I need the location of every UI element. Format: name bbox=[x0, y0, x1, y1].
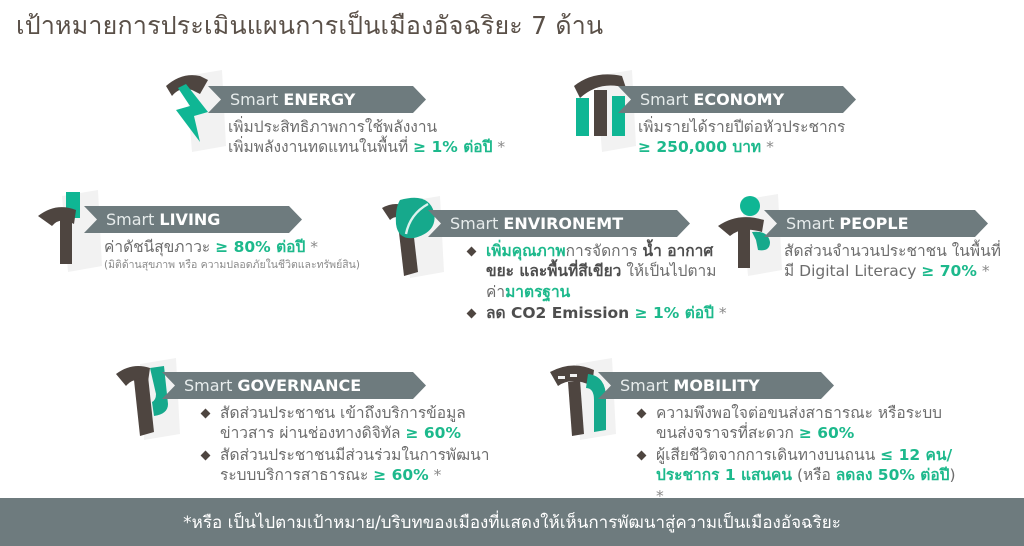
card-smart-environment: Smart ENVIRONEMT เพิ่มคุณภาพการจัดการ น้… bbox=[376, 190, 734, 325]
people-line2-pre: มี Digital Literacy bbox=[784, 262, 921, 280]
banner-bold-governance: GOVERNANCE bbox=[237, 376, 361, 395]
mob-b1-value: ≥ 60% bbox=[799, 424, 854, 442]
banner-bold-people: PEOPLE bbox=[839, 214, 908, 233]
banner-light-mobility: Smart bbox=[620, 376, 668, 395]
banner-bold-energy: ENERGY bbox=[283, 90, 355, 109]
banner-smart-governance: Smart GOVERNANCE bbox=[162, 372, 426, 399]
governance-bullet-2: สัดส่วนประชาชนมีส่วนร่วมในการพัฒนาระบบบร… bbox=[200, 445, 512, 486]
banner-light-people: Smart bbox=[786, 214, 834, 233]
banner-light-environment: Smart bbox=[450, 214, 498, 233]
body-smart-living: ค่าดัชนีสุขภาวะ ≥ 80% ต่อปี * (มิติด้านส… bbox=[104, 237, 360, 273]
energy-asterisk: * bbox=[497, 138, 505, 156]
banner-light-economy: Smart bbox=[640, 90, 688, 109]
energy-line2-value: ≥ 1% ต่อปี bbox=[413, 138, 492, 156]
env-b2-value: ≥ 1% ต่อปี bbox=[635, 304, 714, 322]
economy-asterisk: * bbox=[766, 138, 774, 156]
banner-light-living: Smart bbox=[106, 210, 154, 229]
economy-line2-value: ≥ 250,000 บาท bbox=[638, 138, 761, 156]
economy-line2: ≥ 250,000 บาท * bbox=[638, 137, 856, 157]
banner-smart-environment: Smart ENVIRONEMT bbox=[428, 210, 690, 237]
banner-smart-energy: Smart ENERGY bbox=[208, 86, 426, 113]
banner-smart-mobility: Smart MOBILITY bbox=[598, 372, 834, 399]
living-line1-value: ≥ 80% ต่อปี bbox=[215, 238, 305, 256]
banner-bold-living: LIVING bbox=[159, 210, 220, 229]
living-line1-pre: ค่าดัชนีสุขภาวะ bbox=[104, 238, 215, 256]
card-smart-mobility: Smart MOBILITY ความพึงพอใจต่อขนส่งสาธารณ… bbox=[546, 352, 966, 507]
gov-b2-value: ≥ 60% bbox=[373, 466, 428, 484]
banner-light-governance: Smart bbox=[184, 376, 232, 395]
energy-line2: เพิ่มพลังงานทดแทนในพื้นที่ ≥ 1% ต่อปี * bbox=[228, 137, 505, 157]
body-smart-energy: เพิ่มประสิทธิภาพการใช้พลังงาน เพิ่มพลังง… bbox=[228, 117, 505, 158]
body-smart-environment: เพิ่มคุณภาพการจัดการ น้ำ อากาศ ขยะ และพื… bbox=[466, 241, 734, 324]
env-b1-a: เพิ่มคุณภาพ bbox=[486, 242, 566, 260]
governance-bullet-1: สัดส่วนประชาชน เข้าถึงบริการข้อมูลข่าวสา… bbox=[200, 403, 512, 444]
env-b1-b: การจัดการ bbox=[566, 242, 643, 260]
living-note: (มิติด้านสุขภาพ หรือ ความปลอดภัยในชีวิตแ… bbox=[104, 259, 360, 273]
gov-b1-value: ≥ 60% bbox=[405, 424, 460, 442]
gov-b2-pre: สัดส่วนประชาชนมีส่วนร่วมในการพัฒนาระบบบร… bbox=[220, 446, 489, 484]
body-smart-governance: สัดส่วนประชาชน เข้าถึงบริการข้อมูลข่าวสา… bbox=[200, 403, 512, 486]
mob-b2-mid: (หรือ bbox=[792, 466, 836, 484]
mob-b2-value2: ลดลง 50% ต่อปี bbox=[836, 466, 950, 484]
card-smart-people: Smart PEOPLE สัดส่วนจำนวนประชาชน ในพื้นท… bbox=[712, 186, 1001, 282]
mob-b2-post: ) bbox=[950, 466, 956, 484]
env-b2-pre: ลด CO2 Emission bbox=[486, 304, 635, 322]
banner-smart-economy: Smart ECONOMY bbox=[618, 86, 856, 113]
banner-smart-living: Smart LIVING bbox=[84, 206, 302, 233]
banner-bold-mobility: MOBILITY bbox=[673, 376, 759, 395]
gov-asterisk: * bbox=[434, 466, 442, 484]
people-line2: มี Digital Literacy ≥ 70% * bbox=[784, 261, 1001, 281]
mob-b2-pre: ผู้เสียชีวิตจากการเดินทางบนถนน bbox=[656, 446, 880, 464]
footer-note: *หรือ เป็นไปตามเป้าหมาย/บริบทของเมืองที่… bbox=[183, 509, 841, 536]
banner-smart-people: Smart PEOPLE bbox=[764, 210, 988, 237]
living-line1: ค่าดัชนีสุขภาวะ ≥ 80% ต่อปี * bbox=[104, 237, 360, 257]
energy-line1: เพิ่มประสิทธิภาพการใช้พลังงาน bbox=[228, 117, 505, 137]
body-smart-mobility: ความพึงพอใจต่อขนส่งสาธารณะ หรือระบบขนส่ง… bbox=[636, 403, 966, 506]
env-asterisk: * bbox=[719, 304, 727, 322]
card-smart-economy: Smart ECONOMY เพิ่มรายได้รายปีต่อหัวประช… bbox=[566, 62, 856, 158]
banner-bold-economy: ECONOMY bbox=[693, 90, 784, 109]
card-smart-energy: Smart ENERGY เพิ่มประสิทธิภาพการใช้พลังง… bbox=[156, 62, 505, 158]
footer-banner: *หรือ เป็นไปตามเป้าหมาย/บริบทของเมืองที่… bbox=[0, 498, 1024, 546]
card-smart-governance: Smart GOVERNANCE สัดส่วนประชาชน เข้าถึงบ… bbox=[110, 352, 512, 487]
card-smart-living: Smart LIVING ค่าดัชนีสุขภาวะ ≥ 80% ต่อปี… bbox=[32, 182, 360, 274]
body-smart-people: สัดส่วนจำนวนประชาชน ในพื้นที่ มี Digital… bbox=[784, 241, 1001, 282]
energy-line2-pre: เพิ่มพลังงานทดแทนในพื้นที่ bbox=[228, 138, 413, 156]
environment-bullet-2: ลด CO2 Emission ≥ 1% ต่อปี * bbox=[466, 303, 734, 323]
body-smart-economy: เพิ่มรายได้รายปีต่อหัวประชากร ≥ 250,000 … bbox=[638, 117, 856, 158]
economy-line1: เพิ่มรายได้รายปีต่อหัวประชากร bbox=[638, 117, 856, 137]
environment-bullet-1: เพิ่มคุณภาพการจัดการ น้ำ อากาศ ขยะ และพื… bbox=[466, 241, 734, 302]
banner-light-energy: Smart bbox=[230, 90, 278, 109]
living-asterisk: * bbox=[310, 238, 318, 256]
people-line2-value: ≥ 70% bbox=[921, 262, 976, 280]
page-title: เป้าหมายการประเมินแผนการเป็นเมืองอัจฉริย… bbox=[16, 6, 603, 46]
mobility-bullet-1: ความพึงพอใจต่อขนส่งสาธารณะ หรือระบบขนส่ง… bbox=[636, 403, 966, 444]
env-b1-e: มาตรฐาน bbox=[505, 283, 570, 301]
banner-bold-environment: ENVIRONEMT bbox=[503, 214, 623, 233]
people-asterisk: * bbox=[982, 262, 990, 280]
people-line1: สัดส่วนจำนวนประชาชน ในพื้นที่ bbox=[784, 241, 1001, 261]
